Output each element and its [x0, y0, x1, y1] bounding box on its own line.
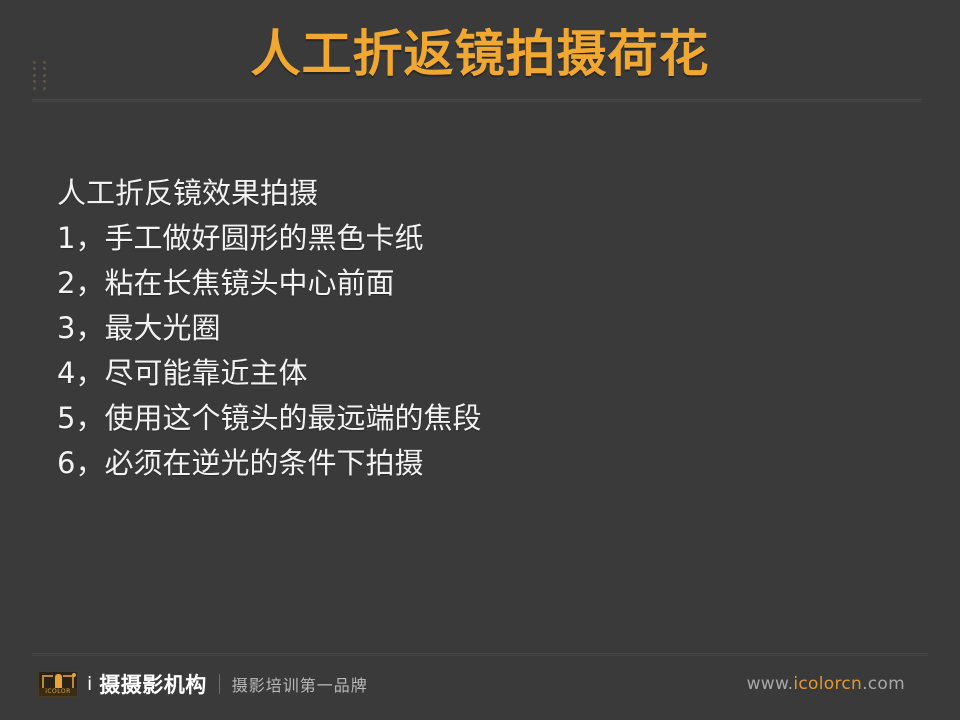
brand-separator: [219, 674, 220, 694]
footer-brand: iCOLOR i 摄摄影机构 摄影培训第一品牌: [38, 669, 368, 699]
brand-name: 摄摄影机构: [99, 669, 207, 699]
body-line: 人工折反镜效果拍摄: [57, 171, 877, 216]
slide-footer: iCOLOR i 摄摄影机构 摄影培训第一品牌 www.icolorcn.com: [0, 665, 960, 720]
logo-registered-dot: [72, 673, 76, 677]
footer-divider: [32, 653, 928, 654]
header-divider: [32, 99, 922, 100]
body-line: 6，必须在逆光的条件下拍摄: [57, 441, 877, 486]
body-line: 5，使用这个镜头的最远端的焦段: [57, 396, 877, 441]
body-line: 4，尽可能靠近主体: [57, 351, 877, 396]
footer-website[interactable]: www.icolorcn.com: [747, 672, 905, 696]
icolor-logo-icon: iCOLOR: [38, 671, 78, 697]
brand-tagline: 摄影培训第一品牌: [232, 672, 368, 696]
slide-body: 人工折反镜效果拍摄 1，手工做好圆形的黑色卡纸 2，粘在长焦镜头中心前面 3，最…: [57, 171, 877, 486]
url-prefix: www.: [747, 674, 794, 694]
logo-center-mark: [55, 674, 62, 689]
presentation-slide: 人工折返镜拍摄荷花 人工折反镜效果拍摄 1，手工做好圆形的黑色卡纸 2，粘在长焦…: [0, 0, 960, 720]
grid-dot: [43, 87, 46, 90]
url-domain: icolorcn: [793, 674, 862, 694]
slide-title: 人工折返镜拍摄荷花: [0, 27, 960, 82]
body-line: 3，最大光圈: [57, 306, 877, 351]
website-url[interactable]: www.icolorcn.com: [747, 674, 905, 694]
logo-wordmark: iCOLOR: [39, 688, 77, 696]
body-line: 2，粘在长焦镜头中心前面: [57, 261, 877, 306]
url-suffix: .com: [862, 674, 905, 694]
grid-dot: [33, 87, 36, 90]
body-line: 1，手工做好圆形的黑色卡纸: [57, 216, 877, 261]
brand-prefix-letter: i: [87, 675, 92, 694]
